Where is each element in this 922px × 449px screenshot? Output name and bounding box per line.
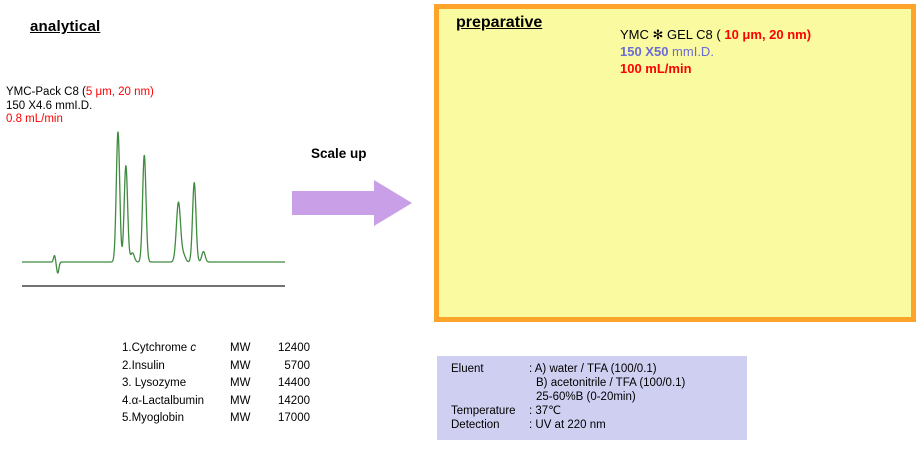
- preparative-flow-rate: 100 mL/min: [620, 60, 811, 77]
- analytical-column-line: YMC-Pack C8 (5 μm, 20 nm): [6, 86, 154, 100]
- compound-row: 5.MyoglobinMW17000: [122, 410, 310, 428]
- compound-mw-value: 12400: [264, 340, 310, 358]
- compound-legend-table: 1.Cytchrome cMW124002.InsulinMW57003. Ly…: [122, 340, 310, 428]
- conditions-eluent-b: B) acetonitrile / TFA (100/0.1): [529, 376, 747, 390]
- compound-name-italic: c: [190, 342, 196, 354]
- compound-mw-value: 5700: [264, 358, 310, 376]
- conditions-temperature-value: : 37℃: [529, 404, 747, 418]
- compound-row: 3. LysozymeMW14400: [122, 375, 310, 393]
- analytical-title: analytical: [30, 18, 100, 35]
- compound-name: 3. Lysozyme: [122, 375, 230, 393]
- scale-up-arrow-icon: [292, 180, 412, 226]
- compound-name: 5.Myoglobin: [122, 410, 230, 428]
- preparative-dim-number: 150 X50: [620, 44, 668, 59]
- preparative-column-line: YMC ✻ GEL C8 ( 10 μm, 20 nm): [620, 26, 811, 43]
- analytical-pore-size: m, 20 nm): [102, 86, 154, 98]
- preparative-dimensions: 150 X50 mmI.D.: [620, 43, 811, 60]
- compound-mw-label: MW: [230, 393, 264, 411]
- conditions-eluent-key: Eluent: [451, 362, 529, 404]
- compound-name: 2.Insulin: [122, 358, 230, 376]
- analytical-chromatogram-svg: [8, 110, 298, 310]
- preparative-brand: YMC: [620, 27, 653, 42]
- compound-mw-label: MW: [230, 340, 264, 358]
- preparative-title: preparative: [456, 14, 542, 32]
- compound-row: 1.Cytchrome cMW12400: [122, 340, 310, 358]
- conditions-eluent-a: : A) water / TFA (100/0.1): [529, 362, 747, 376]
- compound-mw-value: 14400: [264, 375, 310, 393]
- compound-mw-value: 14200: [264, 393, 310, 411]
- conditions-eluent-row: Eluent : A) water / TFA (100/0.1) B) ace…: [437, 362, 747, 404]
- compound-mw-value: 17000: [264, 410, 310, 428]
- conditions-temperature-row: Temperature : 37℃: [437, 404, 747, 418]
- scale-up-label: Scale up: [311, 146, 367, 161]
- preparative-column-mid: GEL C8 (: [663, 27, 724, 42]
- preparative-pore-size: m, 20 nm): [750, 27, 811, 42]
- conditions-eluent-value: : A) water / TFA (100/0.1) B) acetonitri…: [529, 362, 747, 404]
- preparative-particle-size: 10: [724, 27, 742, 42]
- conditions-detection-key: Detection: [451, 418, 529, 432]
- compound-name: 1.Cytchrome c: [122, 340, 230, 358]
- conditions-detection-row: Detection : UV at 220 nm: [437, 418, 747, 432]
- compound-name: 4.α-Lactalbumin: [122, 393, 230, 411]
- compound-row: 2.InsulinMW5700: [122, 358, 310, 376]
- conditions-temperature-key: Temperature: [451, 404, 529, 418]
- preparative-dim-unit: mmI.D.: [668, 44, 714, 59]
- asterisk-icon: ✻: [653, 27, 664, 42]
- conditions-detection-value: : UV at 220 nm: [529, 418, 747, 432]
- compound-mw-label: MW: [230, 358, 264, 376]
- conditions-gradient: 25-60%B (0-20min): [529, 390, 747, 404]
- analytical-column-black: YMC-Pack C8 (: [6, 86, 86, 98]
- conditions-box: Eluent : A) water / TFA (100/0.1) B) ace…: [437, 356, 747, 440]
- preparative-column-conditions: YMC ✻ GEL C8 ( 10 μm, 20 nm) 150 X50 mmI…: [620, 26, 811, 77]
- analytical-chromatogram: [8, 110, 298, 310]
- compound-mw-label: MW: [230, 375, 264, 393]
- compound-mw-label: MW: [230, 410, 264, 428]
- compound-row: 4.α-LactalbuminMW14200: [122, 393, 310, 411]
